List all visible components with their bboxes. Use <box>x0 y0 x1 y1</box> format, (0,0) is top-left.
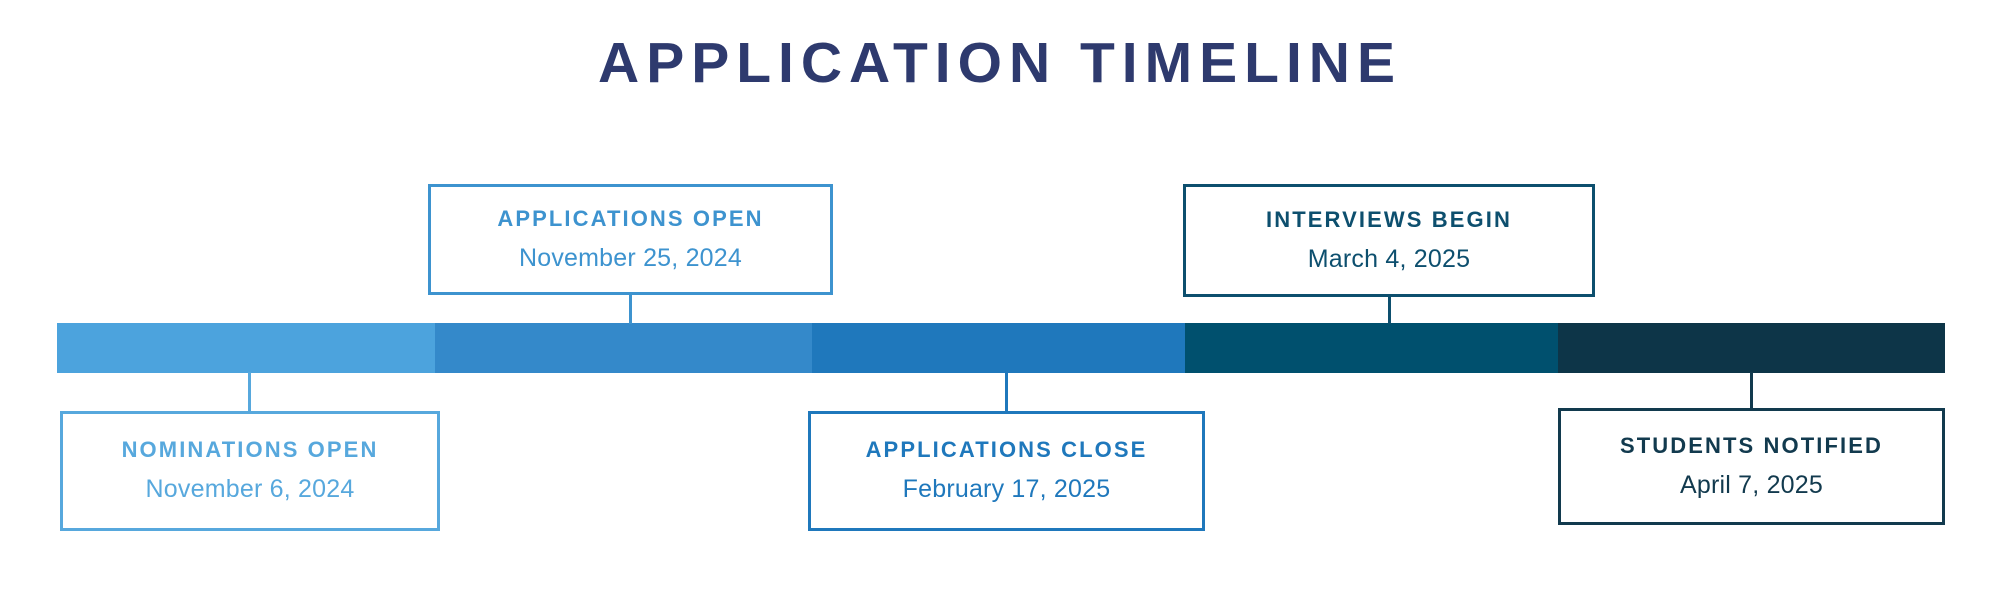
milestone-box-interviews-begin[interactable]: INTERVIEWS BEGIN March 4, 2025 <box>1183 184 1595 297</box>
milestone-title-applications-open: APPLICATIONS OPEN <box>497 207 763 231</box>
milestone-box-applications-close[interactable]: APPLICATIONS CLOSE February 17, 2025 <box>808 411 1205 531</box>
timeline-segment-nominations <box>57 323 435 373</box>
connector-nominations-open <box>248 372 251 411</box>
milestone-date-interviews-begin: March 4, 2025 <box>1308 246 1470 274</box>
milestone-date-applications-close: February 17, 2025 <box>903 476 1111 504</box>
milestone-box-nominations-open[interactable]: NOMINATIONS OPEN November 6, 2024 <box>60 411 440 531</box>
milestone-date-students-notified: April 7, 2025 <box>1680 472 1823 500</box>
milestone-date-applications-open: November 25, 2024 <box>519 245 742 273</box>
milestone-title-nominations-open: NOMINATIONS OPEN <box>122 438 379 462</box>
milestone-date-nominations-open: November 6, 2024 <box>146 476 355 504</box>
milestone-box-applications-open[interactable]: APPLICATIONS OPEN November 25, 2024 <box>428 184 833 295</box>
milestone-title-interviews-begin: INTERVIEWS BEGIN <box>1266 208 1512 232</box>
timeline-segment-applications-open <box>435 323 812 373</box>
connector-students-notified <box>1750 372 1753 411</box>
timeline-bar <box>57 323 1945 373</box>
milestone-title-students-notified: STUDENTS NOTIFIED <box>1620 434 1883 458</box>
timeline-infographic: APPLICATION TIMELINE APPLICATIONS OPEN N… <box>0 0 2000 600</box>
page-title: APPLICATION TIMELINE <box>0 34 2000 94</box>
timeline-segment-interviews <box>1185 323 1558 373</box>
timeline-segment-notified <box>1558 323 1945 373</box>
timeline-segment-applications-close <box>812 323 1185 373</box>
connector-applications-close <box>1005 372 1008 411</box>
connector-interviews-begin <box>1388 295 1391 324</box>
connector-applications-open <box>629 295 632 324</box>
milestone-box-students-notified[interactable]: STUDENTS NOTIFIED April 7, 2025 <box>1558 408 1945 525</box>
milestone-title-applications-close: APPLICATIONS CLOSE <box>866 438 1148 462</box>
